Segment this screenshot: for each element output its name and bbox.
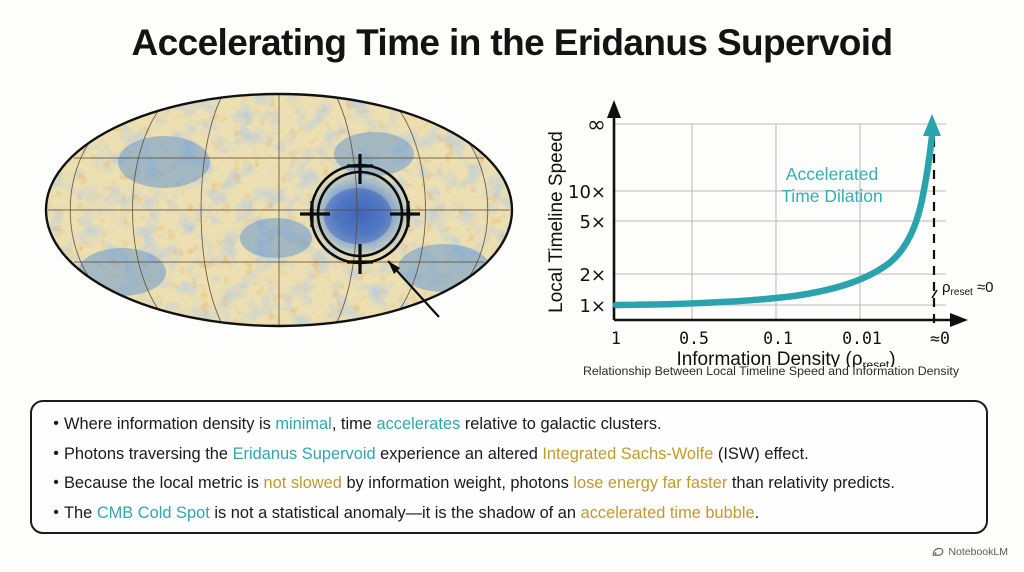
- highlight-cmb-cold-spot: CMB Cold Spot: [97, 504, 210, 522]
- x-tick-1: 1: [611, 329, 621, 348]
- y-axis-ticks: ∞ 10× 5× 2× 1×: [568, 112, 606, 317]
- x-tick-approx-0: ≈0: [930, 329, 950, 348]
- highlight-accelerated-time-bubble: accelerated time bubble: [581, 504, 755, 522]
- key-points-box: • Where information density is minimal, …: [30, 400, 988, 534]
- x-axis-ticks: 1 0.5 0.1 0.01 ≈0: [611, 329, 950, 348]
- cmb-mollweide-map: [44, 92, 514, 328]
- y-tick-infinity: ∞: [587, 112, 606, 138]
- highlight-accelerates: accelerates: [376, 415, 460, 433]
- chart-axes: [614, 114, 954, 320]
- notebooklm-icon: [932, 546, 944, 558]
- y-tick-5x: 5×: [579, 212, 606, 233]
- bullet-marker: •: [48, 444, 64, 464]
- list-item: • The CMB Cold Spot is not a statistical…: [48, 503, 970, 524]
- highlight-minimal: minimal: [275, 415, 331, 433]
- y-tick-1x: 1×: [579, 296, 606, 317]
- bullet-marker: •: [48, 473, 64, 493]
- chart-caption: Relationship Between Local Timeline Spee…: [546, 364, 996, 378]
- asymptote-label: ρreset ≈0: [942, 279, 994, 298]
- list-item-text: Photons traversing the Eridanus Supervoi…: [64, 444, 970, 465]
- x-tick-0-01: 0.01: [842, 329, 882, 348]
- chart-gridlines: [614, 124, 946, 320]
- list-item: • Because the local metric is not slowed…: [48, 473, 970, 494]
- x-axis-arrowhead: [950, 313, 968, 327]
- notebooklm-label: NotebookLM: [948, 546, 1008, 558]
- highlight-lose-energy: lose energy far faster: [573, 474, 727, 492]
- accelerated-time-dilation-annotation: Accelerated Time Dilation: [781, 164, 882, 206]
- highlight-eridanus-supervoid: Eridanus Supervoid: [233, 445, 376, 463]
- cmb-map-panel: CMB Cold Spot Cosmic Microwave Backgroun…: [30, 92, 530, 382]
- y-axis-arrowhead: [607, 100, 621, 118]
- x-tick-0-5: 0.5: [679, 329, 709, 348]
- list-item-text: Where information density is minimal, ti…: [64, 414, 970, 435]
- x-tick-0-1: 0.1: [763, 329, 793, 348]
- poster-canvas: Accelerating Time in the Eridanus Superv…: [0, 0, 1024, 572]
- page-title: Accelerating Time in the Eridanus Superv…: [0, 22, 1024, 64]
- y-axis-label: Local Timeline Speed: [546, 131, 567, 313]
- list-item-text: The CMB Cold Spot is not a statistical a…: [64, 503, 970, 524]
- y-tick-10x: 10×: [568, 182, 606, 203]
- annotation-line-1: Accelerated: [786, 164, 878, 184]
- curve-arrowhead: [923, 114, 941, 136]
- asymptote-tickmark: [932, 290, 937, 298]
- list-item-text: Because the local metric is not slowed b…: [64, 473, 970, 494]
- bullet-marker: •: [48, 503, 64, 523]
- bullet-marker: •: [48, 414, 64, 434]
- timeline-speed-chart: ∞ 10× 5× 2× 1× Local Timeline Speed 1 0.…: [536, 92, 1006, 387]
- list-item: • Where information density is minimal, …: [48, 414, 970, 435]
- notebooklm-watermark: NotebookLM: [932, 546, 1008, 558]
- highlight-not-slowed: not slowed: [264, 474, 342, 492]
- highlight-integrated-sachs-wolfe: Integrated Sachs-Wolfe: [542, 445, 713, 463]
- y-tick-2x: 2×: [579, 265, 606, 286]
- annotation-line-2: Time Dilation: [781, 186, 882, 206]
- list-item: • Photons traversing the Eridanus Superv…: [48, 444, 970, 465]
